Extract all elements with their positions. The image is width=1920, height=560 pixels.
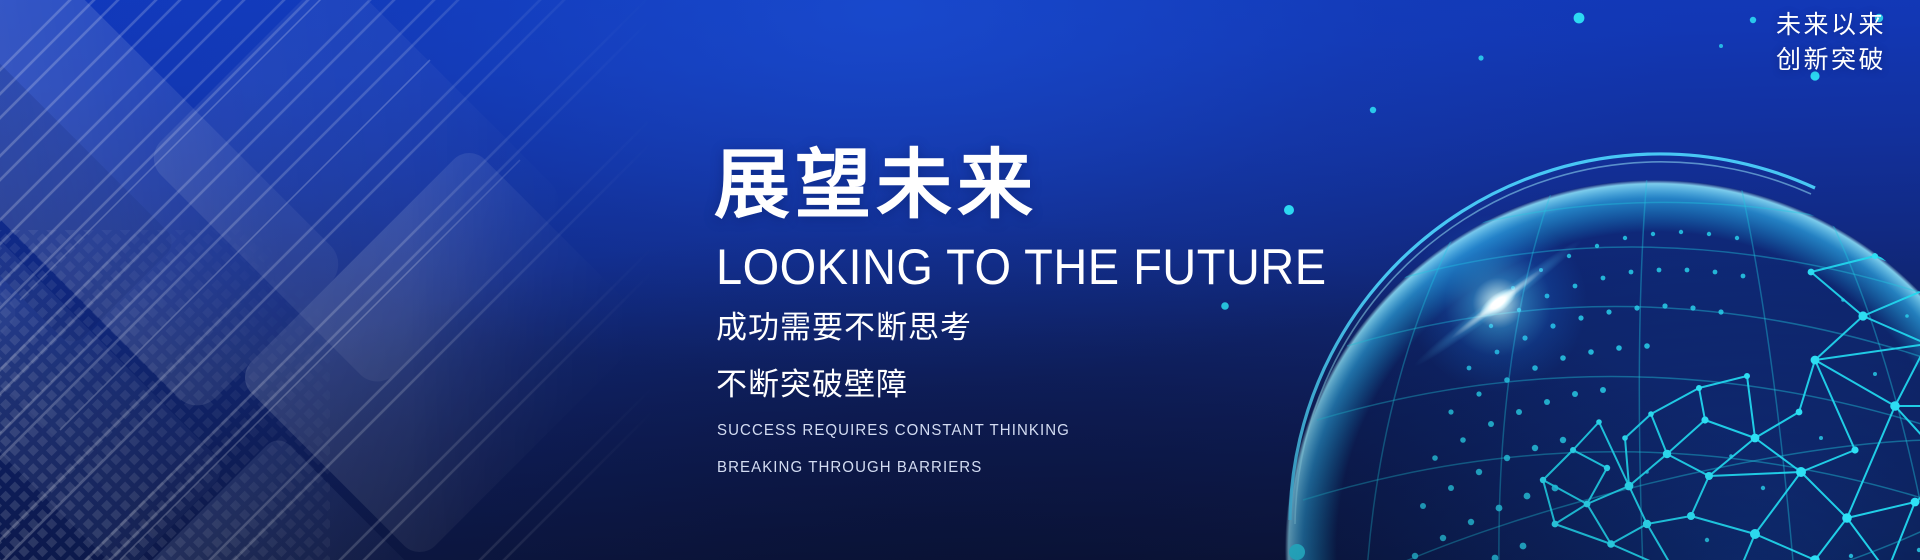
subhead-english-line-2: BREAKING THROUGH BARRIERS xyxy=(717,455,1315,480)
headline-chinese: 展望未来 xyxy=(714,148,1334,224)
subhead-chinese-line-1: 成功需要不断思考 xyxy=(716,308,1334,349)
wireframe-globe xyxy=(1255,120,1920,560)
banner-root: 展望未来 LOOKING TO THE FUTURE 成功需要不断思考 不断突破… xyxy=(0,0,1920,560)
corner-tagline: 未来以来 创新突破 xyxy=(1776,8,1886,77)
headline-english: LOOKING TO THE FUTURE xyxy=(716,242,1297,292)
subhead-chinese-line-2: 不断突破壁障 xyxy=(716,365,1334,406)
corner-tagline-line-2: 创新突破 xyxy=(1776,43,1886,78)
subhead-english-line-1: SUCCESS REQUIRES CONSTANT THINKING xyxy=(717,418,1315,443)
headline-copy-block: 展望未来 LOOKING TO THE FUTURE 成功需要不断思考 不断突破… xyxy=(714,148,1334,480)
left-geometric-decoration xyxy=(0,0,660,560)
corner-tagline-line-1: 未来以来 xyxy=(1776,8,1886,43)
